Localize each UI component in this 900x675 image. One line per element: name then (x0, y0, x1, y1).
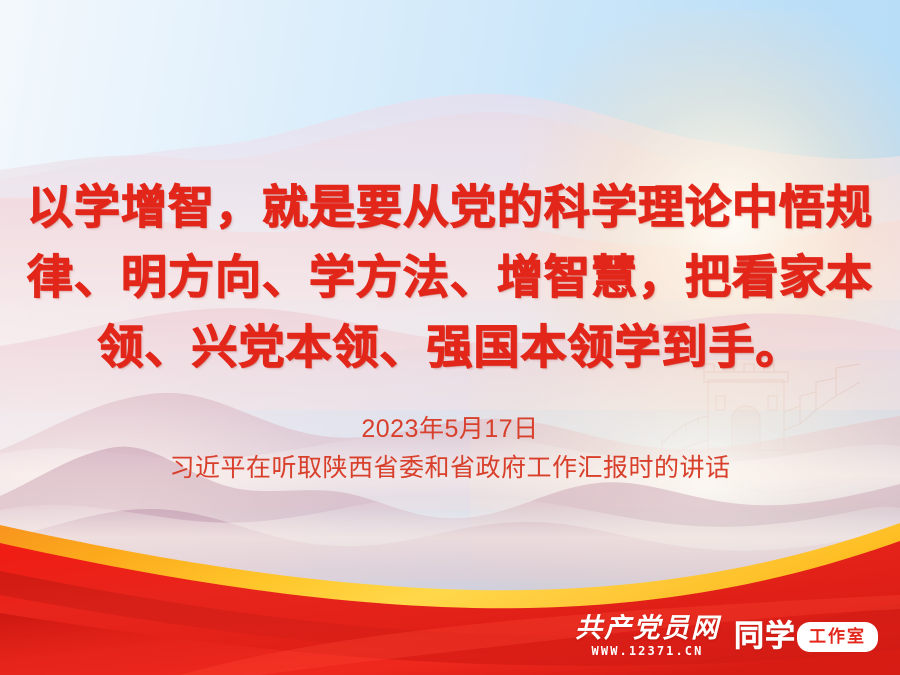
headline-line-2: 律、明方向、学方法、增智慧，把看家本 (0, 242, 900, 312)
site-logo[interactable]: 共产党员网 WWW.12371.CN (575, 614, 720, 659)
propaganda-poster: 以学增智，就是要从党的科学理论中悟规 律、明方向、学方法、增智慧，把看家本 领、… (0, 0, 900, 675)
speech-date: 2023年5月17日 (0, 410, 900, 448)
logo-lockup[interactable]: 共产党员网 WWW.12371.CN 同学 工作室 (575, 614, 878, 659)
headline-text: 以学增智，就是要从党的科学理论中悟规 律、明方向、学方法、增智慧，把看家本 领、… (0, 172, 900, 382)
studio-name: 同学 (734, 621, 796, 653)
site-name: 共产党员网 (575, 614, 720, 642)
credit-block: 2023年5月17日 习近平在听取陕西省委和省政府工作汇报时的讲话 (0, 410, 900, 488)
studio-badge: 工作室 (797, 622, 878, 652)
speech-attribution: 习近平在听取陕西省委和省政府工作汇报时的讲话 (0, 448, 900, 488)
headline-line-3: 领、兴党本领、强国本领学到手。 (0, 312, 900, 382)
headline-line-1: 以学增智，就是要从党的科学理论中悟规 (0, 172, 900, 242)
studio-logo[interactable]: 同学 工作室 (734, 621, 878, 653)
site-url: WWW.12371.CN (592, 644, 704, 659)
